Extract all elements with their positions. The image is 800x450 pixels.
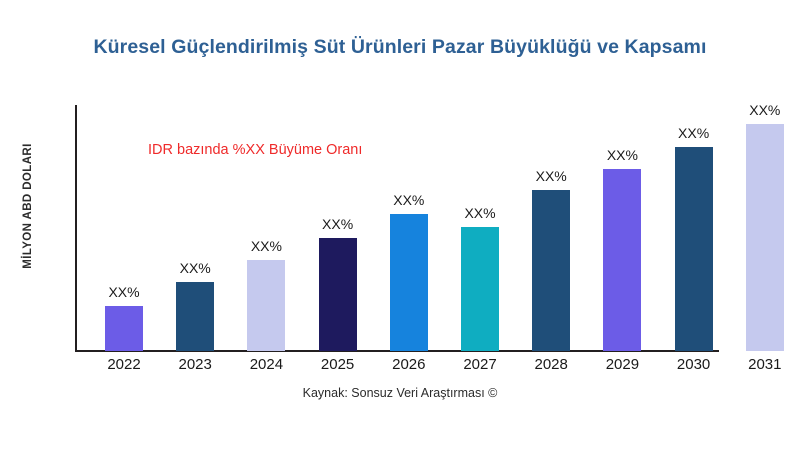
bar-2030[interactable] xyxy=(675,147,713,351)
x-tick-label-2023: 2023 xyxy=(155,356,235,373)
bar-value-label-2025: XX% xyxy=(298,216,378,232)
bar-value-label-2027: XX% xyxy=(440,205,520,221)
y-axis-label: MİLYON ABD DOLARI xyxy=(22,96,34,316)
bar-value-label-2029: XX% xyxy=(582,147,662,163)
source-note: Kaynak: Sonsuz Veri Araştırması © xyxy=(0,386,800,400)
bar-value-label-2022: XX% xyxy=(84,284,164,300)
bar-2023[interactable] xyxy=(176,282,214,351)
bar-value-label-2030: XX% xyxy=(654,125,734,141)
chart-page: Küresel Güçlendirilmiş Süt Ürünleri Paza… xyxy=(0,0,800,450)
x-tick-label-2027: 2027 xyxy=(440,356,520,373)
x-tick-label-2024: 2024 xyxy=(226,356,306,373)
bar-2026[interactable] xyxy=(390,214,428,351)
bar-value-label-2026: XX% xyxy=(369,192,449,208)
bar-2025[interactable] xyxy=(319,238,357,351)
bar-2027[interactable] xyxy=(461,227,499,351)
x-tick-label-2029: 2029 xyxy=(582,356,662,373)
x-tick-label-2031: 2031 xyxy=(725,356,800,373)
bar-value-label-2031: XX% xyxy=(725,102,800,118)
bar-2022[interactable] xyxy=(105,306,143,351)
bar-2028[interactable] xyxy=(532,190,570,351)
chart-title: Küresel Güçlendirilmiş Süt Ürünleri Paza… xyxy=(0,36,800,59)
bar-2029[interactable] xyxy=(603,169,641,351)
x-tick-label-2030: 2030 xyxy=(654,356,734,373)
bar-value-label-2024: XX% xyxy=(226,238,306,254)
x-tick-label-2022: 2022 xyxy=(84,356,164,373)
bar-value-label-2023: XX% xyxy=(155,260,235,276)
bar-value-label-2028: XX% xyxy=(511,168,591,184)
x-tick-label-2026: 2026 xyxy=(369,356,449,373)
bar-2031[interactable] xyxy=(746,124,784,351)
x-tick-label-2028: 2028 xyxy=(511,356,591,373)
bar-2024[interactable] xyxy=(247,260,285,351)
x-tick-label-2025: 2025 xyxy=(298,356,378,373)
